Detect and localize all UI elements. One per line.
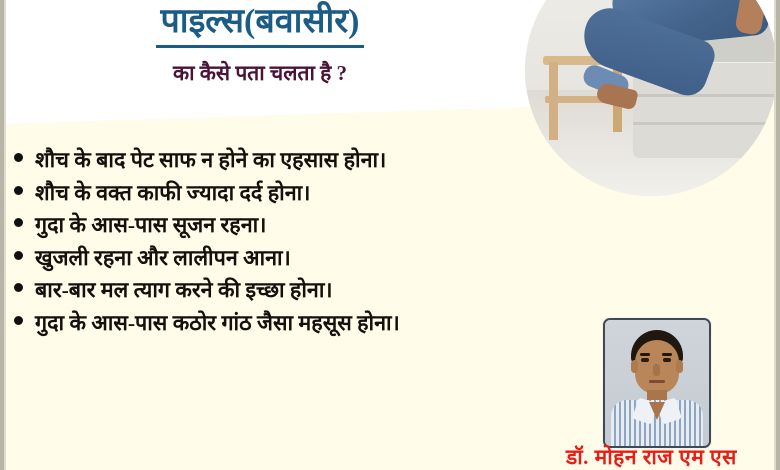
symptom-list: शौच के बाद पेट साफ न होने का एहसास होना।… [14,150,594,345]
doctor-name-label: डॉ. मोहन राज एम एस [566,447,737,468]
heading-block: पाइल्स(बवासीर) का कैसे पता चलता है ? [0,2,520,87]
symptom-text: गुदा के आस-पास कठोर गांठ जैसा महसूस होना… [35,313,400,335]
bullet-dot-icon [14,153,23,162]
page-subtitle: का कैसे पता चलता है ? [0,59,520,87]
hero-sofa-seam-upper [633,94,777,97]
list-item: शौच के बाद पेट साफ न होने का एहसास होना। [14,150,594,172]
list-item: गुदा के आस-पास सूजन रहना। [14,215,594,237]
doctor-ear-left [631,360,638,373]
doctor-eyebrow-right [662,353,672,356]
hero-sofa-seam-lower [633,122,777,125]
doctor-photo [603,318,711,448]
doctor-eyebrow-left [640,353,650,356]
hero-photo-inner [525,0,777,196]
piles-symptoms-poster: पाइल्स(बवासीर) का कैसे पता चलता है ? शौच… [0,0,780,470]
list-item: खुजली रहना और लालीपन आना। [14,248,594,270]
list-item: गुदा के आस-पास कठोर गांठ जैसा महसूस होना… [14,313,594,335]
symptom-text: बार-बार मल त्याग करने की इच्छा होना। [35,280,333,302]
hero-photo-person-on-sofa [525,0,777,196]
doctor-eye-left [641,358,649,362]
bullet-dot-icon [14,316,23,325]
list-item: बार-बार मल त्याग करने की इच्छा होना। [14,280,594,302]
doctor-ear-right [676,360,683,373]
list-item: शौच के वक्त काफी ज्यादा दर्द होना। [14,183,594,205]
bullet-dot-icon [14,186,23,195]
symptom-text: गुदा के आस-पास सूजन रहना। [35,215,266,237]
right-edge-strip [776,0,780,470]
page-title: पाइल्स(बवासीर) [156,2,363,48]
symptom-text: शौच के वक्त काफी ज्यादा दर्द होना। [35,183,310,205]
bullet-dot-icon [14,283,23,292]
left-edge-strip [0,0,4,470]
hero-wooden-stool-leg-left [549,62,558,140]
symptom-text: खुजली रहना और लालीपन आना। [35,248,291,270]
bullet-dot-icon [14,251,23,260]
doctor-eye-right [663,358,671,362]
symptom-text: शौच के बाद पेट साफ न होने का एहसास होना। [35,150,386,172]
doctor-nose [653,364,660,376]
bullet-dot-icon [14,218,23,227]
doctor-mouth [649,380,665,383]
